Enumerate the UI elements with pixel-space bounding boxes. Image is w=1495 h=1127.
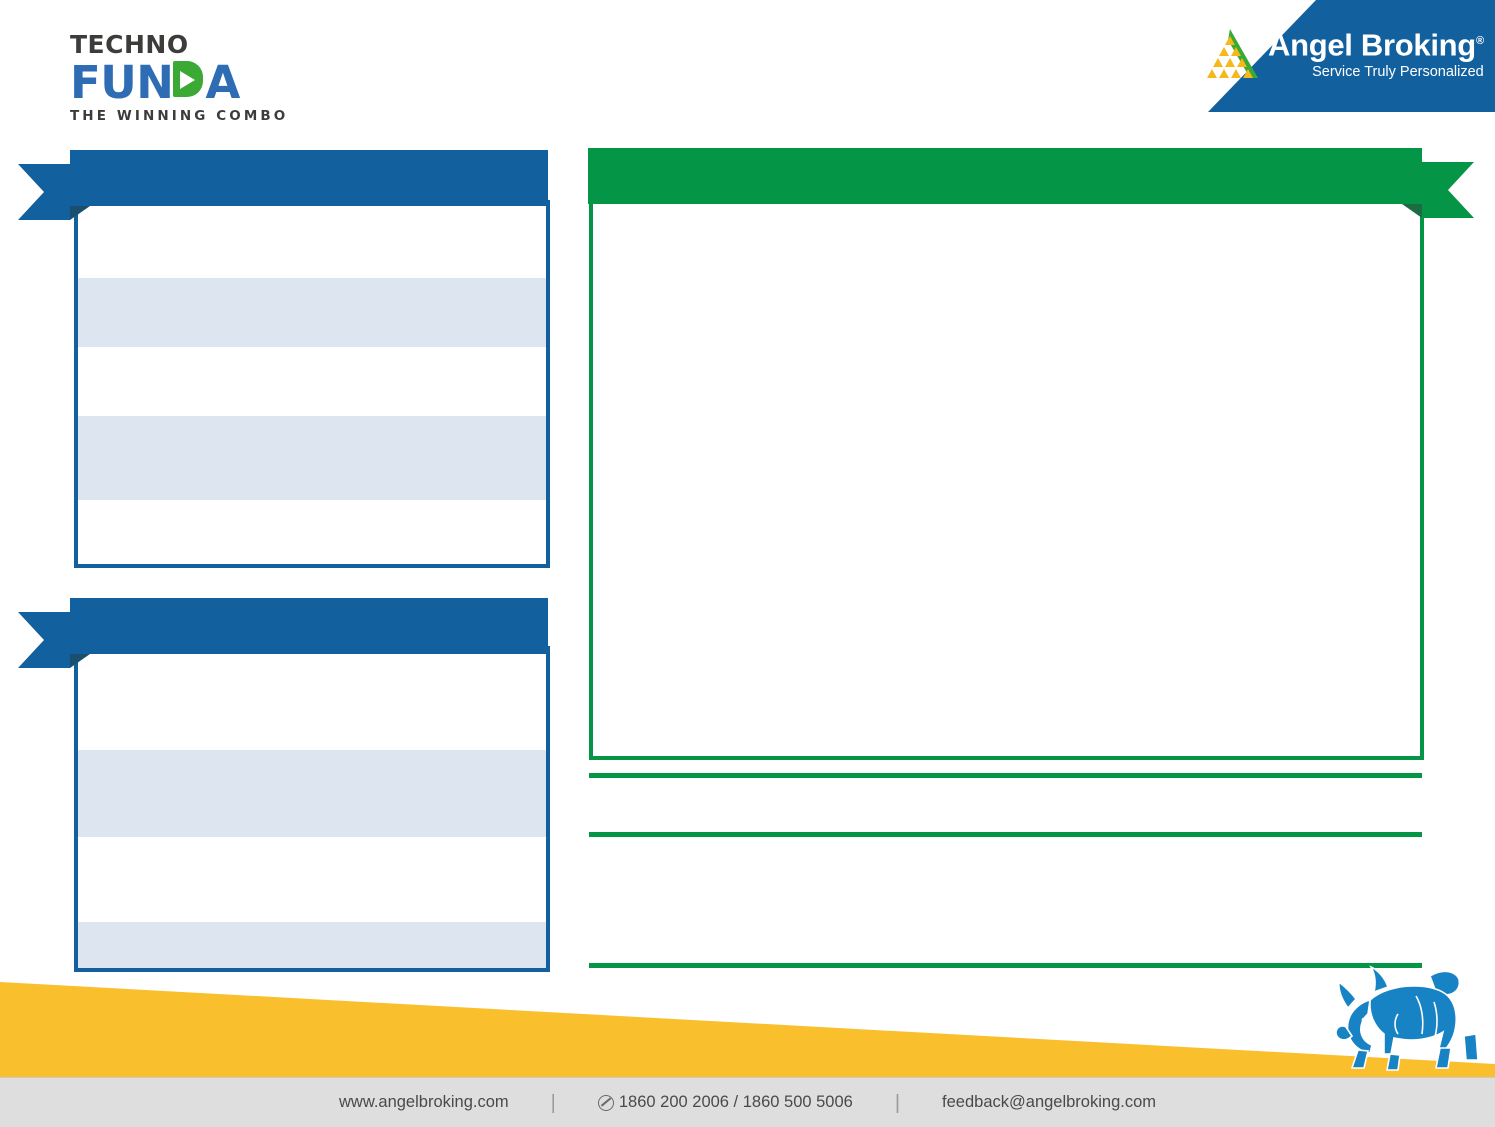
table-row[interactable]: [78, 650, 546, 750]
table-row[interactable]: [78, 416, 546, 466]
logo-line-funda: FUN A: [70, 58, 288, 105]
logo-line-techno: TECHNO: [70, 32, 288, 58]
blue-panel-top: [74, 200, 550, 568]
angel-triangle-mark-icon: [1200, 26, 1262, 84]
ribbon-bar: [70, 150, 548, 206]
table-cell: [312, 500, 546, 567]
table-cell: [78, 416, 312, 466]
table-row[interactable]: [78, 500, 546, 567]
data-table-bottom: [78, 650, 546, 972]
slide-page: Angel Broking® Service Truly Personalize…: [0, 0, 1495, 1127]
table-row[interactable]: [78, 750, 546, 837]
ribbon-fold: [70, 206, 90, 220]
table-row[interactable]: [78, 347, 546, 416]
footer-email[interactable]: feedback@angelbroking.com: [942, 1093, 1156, 1112]
table-cell: [312, 837, 546, 922]
chart-area: [593, 202, 1420, 756]
table-cell: [312, 922, 546, 972]
table-cell: [312, 347, 546, 416]
table-cell: [312, 278, 546, 347]
table-cell: [78, 278, 312, 347]
registered-mark: ®: [1476, 35, 1484, 47]
ribbon-fold: [1402, 204, 1422, 218]
chart-panel[interactable]: [589, 198, 1424, 760]
footer-bar: www.angelbroking.com | 1860 200 2006 / 1…: [0, 1077, 1495, 1127]
ribbon-bar: [70, 598, 548, 654]
techno-funda-logo: TECHNO FUN A THE WINNING COMBO: [70, 32, 288, 125]
table-cell: [78, 466, 312, 500]
table-row[interactable]: [78, 466, 546, 500]
green-divider-2: [589, 832, 1422, 837]
green-divider-1: [589, 773, 1422, 778]
data-table-top: [78, 204, 546, 568]
logo-funda-d-play-icon: [173, 58, 205, 98]
logo-funda-fun: FUN: [70, 60, 173, 105]
footer-phone: 1860 200 2006 / 1860 500 5006: [598, 1093, 853, 1112]
brand-name: Angel Broking®: [1268, 24, 1484, 62]
table-cell: [312, 416, 546, 466]
table-cell: [312, 466, 546, 500]
table-cell: [78, 837, 312, 922]
bull-mascot-icon: [1312, 962, 1487, 1074]
blue-banner-bottom: [18, 598, 548, 654]
yellow-wedge: [0, 968, 1495, 1078]
table-row[interactable]: [78, 837, 546, 922]
ribbon-fold: [70, 654, 90, 668]
table-row[interactable]: [78, 204, 546, 278]
table-cell: [78, 650, 312, 750]
brand-name-text: Angel Broking: [1268, 27, 1476, 62]
table-cell: [78, 567, 312, 568]
table-cell: [78, 347, 312, 416]
footer-separator: |: [509, 1093, 598, 1113]
ribbon-tail-right: [1422, 162, 1474, 218]
brand-logo: Angel Broking® Service Truly Personalize…: [1200, 24, 1484, 84]
brand-tagline: Service Truly Personalized: [1312, 63, 1484, 81]
table-row[interactable]: [78, 922, 546, 972]
table-cell: [312, 567, 546, 568]
table-row[interactable]: [78, 567, 546, 568]
logo-play-triangle: [180, 71, 195, 89]
green-banner: [588, 148, 1474, 204]
table-cell: [312, 750, 546, 837]
blue-panel-bottom: [74, 646, 550, 972]
phone-icon: [598, 1095, 614, 1111]
table-cell: [78, 922, 312, 972]
table-cell: [312, 204, 546, 278]
table-cell: [78, 500, 312, 567]
footer-website[interactable]: www.angelbroking.com: [339, 1093, 509, 1112]
blue-banner-top: [18, 150, 548, 206]
green-divider-3: [589, 963, 1422, 968]
table-cell: [312, 650, 546, 750]
ribbon-bar: [588, 148, 1422, 204]
table-row[interactable]: [78, 278, 546, 347]
table-cell: [78, 750, 312, 837]
ribbon-tail-left: [18, 164, 70, 220]
logo-funda-a: A: [205, 60, 239, 105]
ribbon-tail-left: [18, 612, 70, 668]
table-cell: [78, 204, 312, 278]
footer-separator: |: [853, 1093, 942, 1113]
logo-line-combo: THE WINNING COMBO: [70, 107, 288, 125]
footer-phone-text: 1860 200 2006 / 1860 500 5006: [619, 1093, 853, 1112]
